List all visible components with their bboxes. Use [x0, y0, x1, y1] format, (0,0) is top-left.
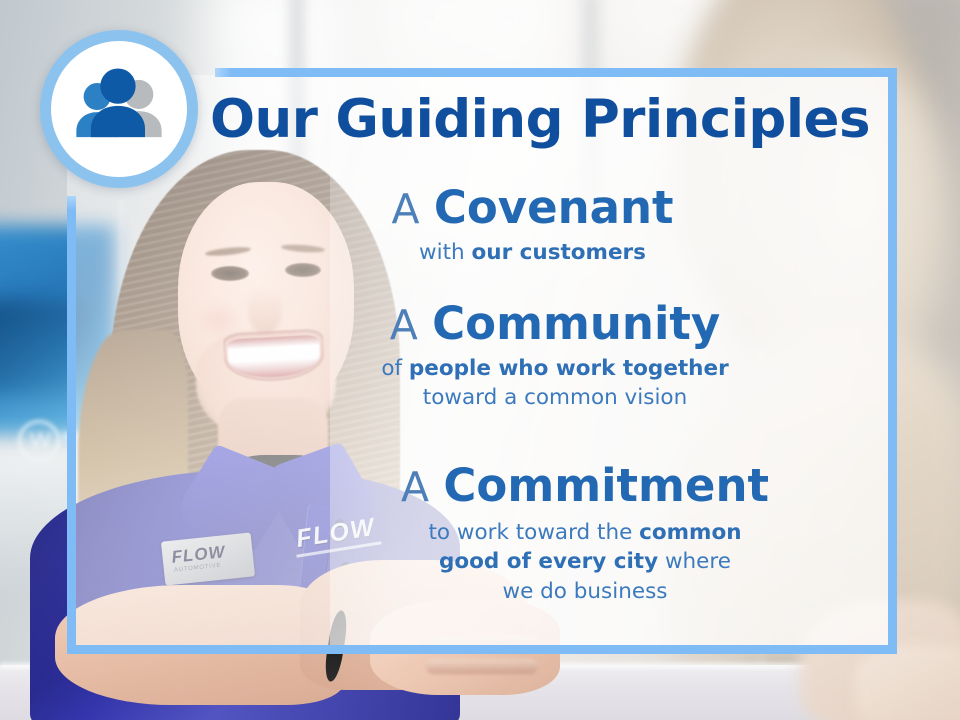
- guiding-principles-poster: FLOW AUTOMOTIVE FLOW: [0, 0, 960, 720]
- principle-covenant-subtext: with our customers: [105, 238, 960, 268]
- principle-covenant-heading: A Covenant: [105, 184, 960, 232]
- principle-covenant-article: A: [391, 185, 419, 233]
- principle-commitment: A Commitment to work toward the common g…: [0, 462, 960, 607]
- principle-covenant: A Covenant with our customers: [0, 184, 960, 267]
- principle-community-article: A: [390, 301, 418, 349]
- principle-community-subtext-plain-1: of: [381, 356, 409, 381]
- principle-commitment-subtext-plain-3: we do business: [503, 579, 668, 604]
- employee-fingers-lower: [426, 659, 538, 674]
- principle-commitment-word: Commitment: [443, 459, 769, 512]
- employee-eye-left: [211, 266, 249, 281]
- principle-commitment-subtext: to work toward the common good of every …: [210, 518, 960, 607]
- principle-commitment-subtext-plain-2: where: [658, 549, 731, 574]
- principle-community-subtext: of people who work together toward a com…: [150, 354, 960, 413]
- principle-commitment-subtext-bold-1: common: [639, 520, 741, 545]
- frame-border-top-tip: [215, 68, 231, 77]
- principle-covenant-subtext-plain: with: [419, 240, 471, 265]
- principle-commitment-subtext-plain-1: to work toward the: [428, 520, 639, 545]
- principle-community-heading: A Community: [150, 300, 960, 348]
- principle-community-word: Community: [432, 297, 720, 350]
- principle-community: A Community of people who work together …: [0, 300, 960, 413]
- frame-border-top: [215, 68, 897, 77]
- principle-commitment-subtext-bold-2: good of every city: [439, 549, 658, 574]
- customer-hand-fingers: [855, 645, 960, 720]
- principle-community-subtext-bold-1: people who work together: [409, 356, 729, 381]
- principle-covenant-word: Covenant: [434, 181, 674, 234]
- frame-border-bottom: [67, 645, 897, 654]
- principle-commitment-heading: A Commitment: [210, 462, 960, 510]
- page-title: Our Guiding Principles: [0, 92, 960, 148]
- principle-commitment-article: A: [401, 463, 429, 511]
- principle-community-subtext-plain-2: toward a common vision: [423, 385, 687, 410]
- principle-covenant-subtext-bold: our customers: [472, 240, 646, 265]
